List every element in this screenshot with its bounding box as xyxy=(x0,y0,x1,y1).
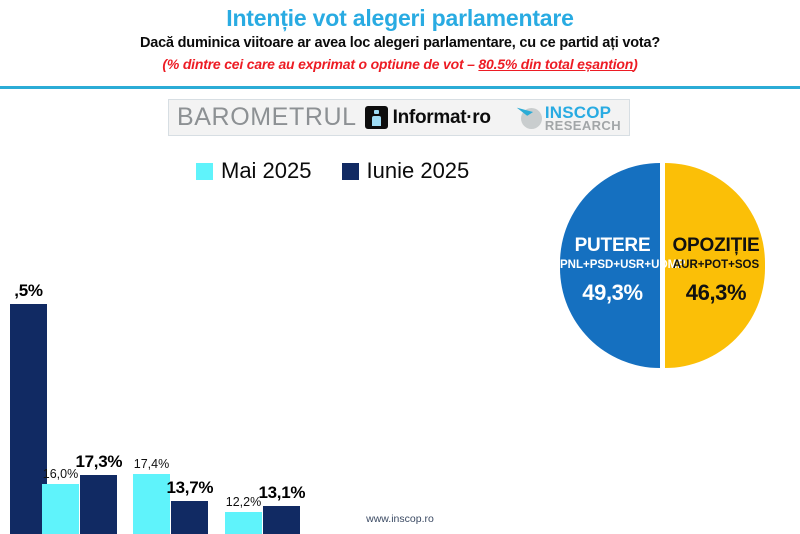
bar-psd-mai xyxy=(133,474,170,534)
pie-opozitie-name: OPOZIȚIE xyxy=(667,235,765,256)
pie-chart: PUTERE PNL+PSD+USR+UDMR 49,3% OPOZIȚIE A… xyxy=(560,163,765,368)
bar-value-label: ,5% xyxy=(6,281,52,301)
bar-value-label: 17,3% xyxy=(76,452,122,472)
bar-value-label: 16,0% xyxy=(43,467,79,481)
footer-url: www.inscop.ro xyxy=(0,513,800,525)
header-note-emphasis: 80.5% din total eșantion xyxy=(478,56,633,72)
pie-putere-name: PUTERE xyxy=(560,235,665,256)
bar-value-label: 13,7% xyxy=(167,478,213,498)
informat-icon xyxy=(365,106,388,129)
header-question: Dacă duminica viitoare ar avea loc alege… xyxy=(0,33,800,54)
pie-putere-value: 49,3% xyxy=(560,281,665,306)
header-note-prefix: (% dintre cei care au exprimat o optiune… xyxy=(162,56,478,72)
logo-bar: BAROMETRUL Informat·ro INSCOP RESEARCH xyxy=(168,99,630,136)
pie-putere-parties: PNL+PSD+USR+UDMR xyxy=(560,259,665,272)
slide-root: Intenție vot alegeri parlamentare Dacă d… xyxy=(0,0,800,534)
pie-opozitie-parties: AUR+POT+SOS xyxy=(667,259,765,272)
inscop-logo: INSCOP RESEARCH xyxy=(517,104,621,132)
inscop-subname: RESEARCH xyxy=(545,119,621,132)
bar-value-label: 12,2% xyxy=(226,495,262,509)
informat-logo: Informat·ro xyxy=(365,106,491,129)
bar-value-label: 13,1% xyxy=(259,483,305,503)
bar-value-label: 17,4% xyxy=(134,457,170,471)
barometrul-wordmark: BAROMETRUL xyxy=(177,105,357,130)
inscop-wordmark: INSCOP RESEARCH xyxy=(545,104,621,132)
bar-pnl-mai xyxy=(42,484,79,534)
inscop-arrow-icon xyxy=(517,105,543,131)
header-note: (% dintre cei care au exprimat o optiune… xyxy=(0,54,800,75)
header: Intenție vot alegeri parlamentare Dacă d… xyxy=(0,0,800,88)
informat-wordmark: Informat·ro xyxy=(393,107,491,129)
pie-opozitie-value: 46,3% xyxy=(667,281,765,306)
pie-label-opozitie: OPOZIȚIE AUR+POT+SOS 46,3% xyxy=(667,235,765,306)
page-title: Intenție vot alegeri parlamentare xyxy=(0,0,800,33)
header-divider xyxy=(0,86,800,89)
bar-pnl-iunie xyxy=(80,475,117,534)
pie-label-putere: PUTERE PNL+PSD+USR+UDMR 49,3% xyxy=(560,235,665,306)
header-note-suffix: ) xyxy=(633,56,637,72)
